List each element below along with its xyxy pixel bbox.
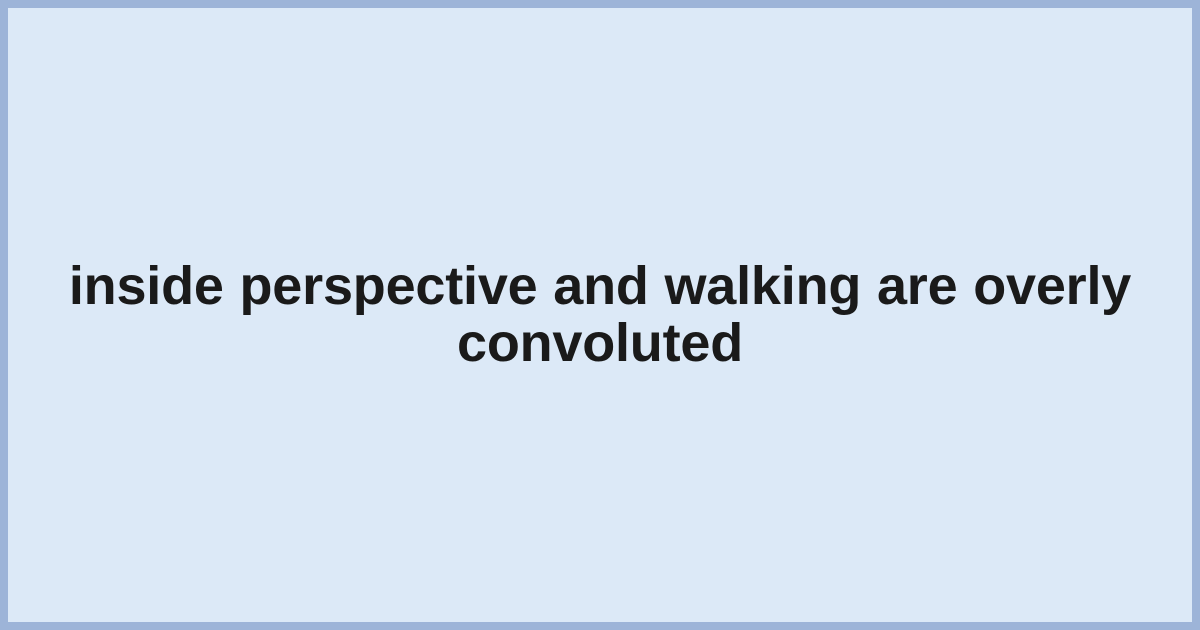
card-canvas: inside perspective and walking are overl… — [8, 8, 1192, 622]
headline-text: inside perspective and walking are overl… — [34, 258, 1166, 372]
quote-card: inside perspective and walking are overl… — [0, 0, 1200, 630]
